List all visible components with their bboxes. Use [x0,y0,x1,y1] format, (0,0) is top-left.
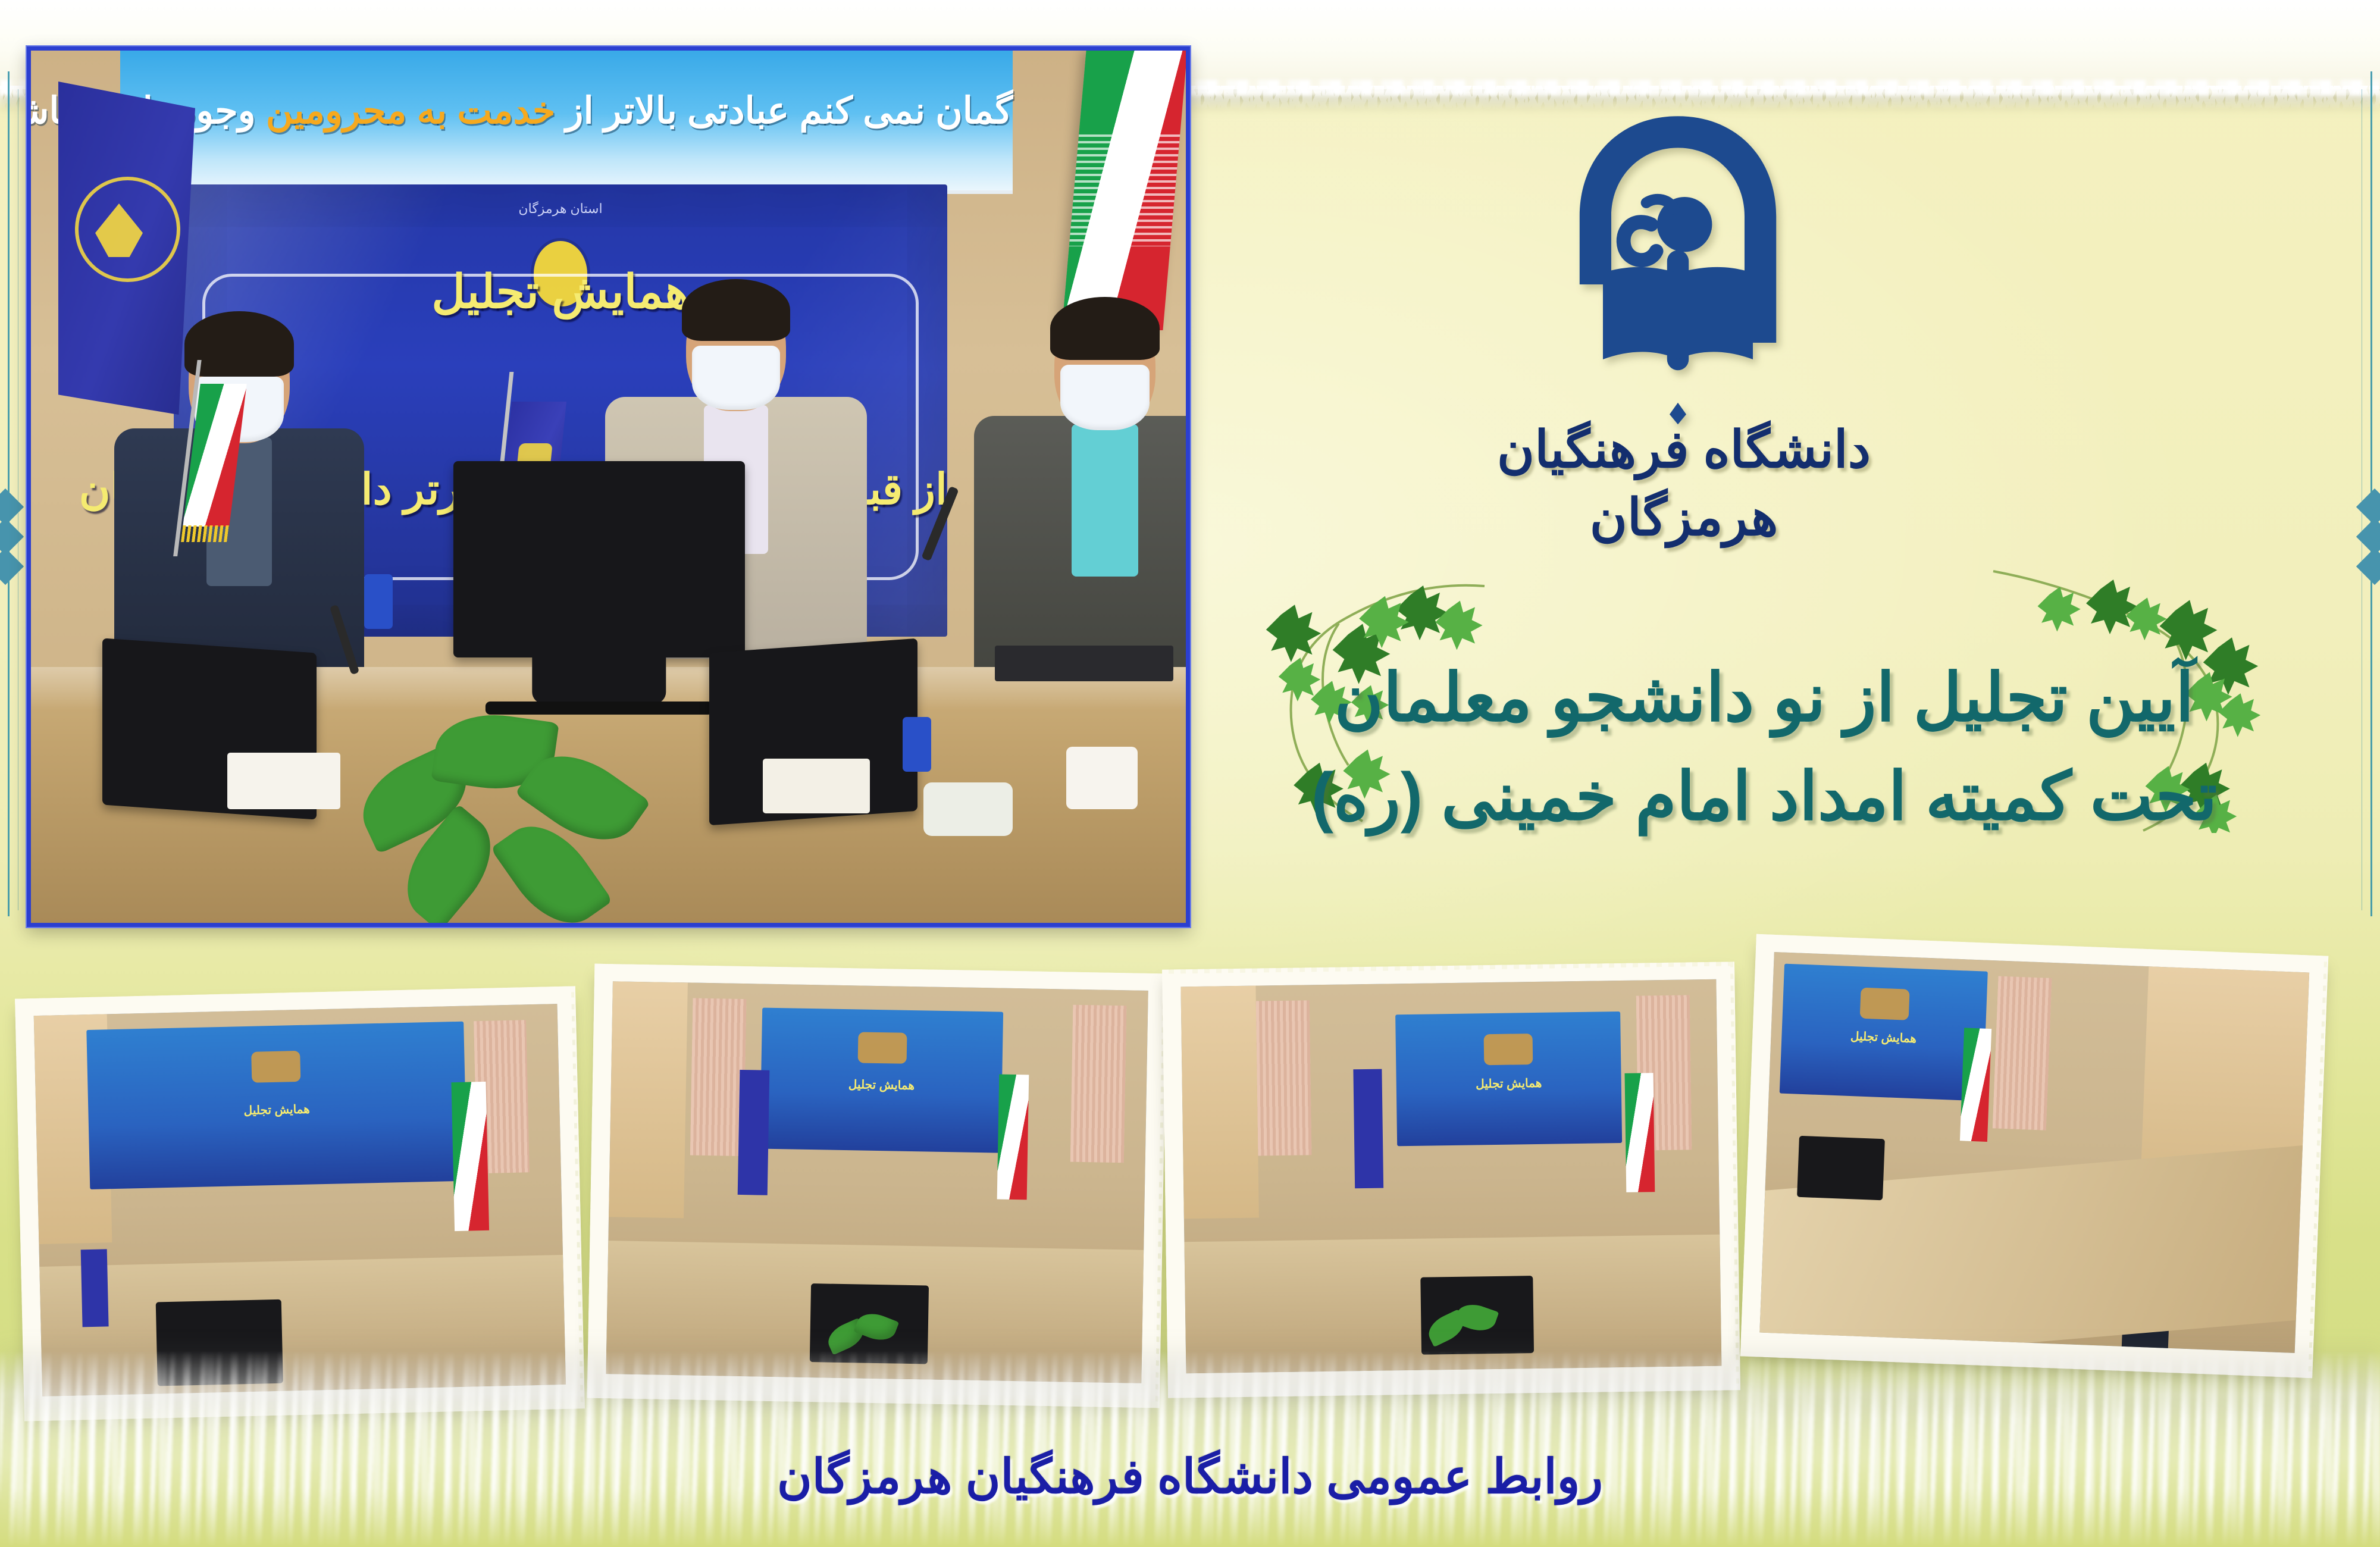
mini-banner-title: همایش تجلیل [1396,1075,1621,1092]
face-mask-icon [692,346,780,410]
diamond-icon [0,548,24,585]
keyboard-icon [995,646,1173,681]
mini-curtain [1256,1000,1312,1155]
diamond-icon [2356,548,2380,585]
mini-curtain [690,998,747,1157]
beverage-can-icon [903,717,931,772]
mini-banner-title: همایش تجلیل [1781,1026,1986,1048]
cup-icon [923,782,1013,836]
right-diamond-cluster [2362,494,2380,580]
mini-scene: همایش تجلیل [606,981,1148,1383]
desk-flag-fringe [181,525,229,542]
mini-curtain [1070,1005,1127,1163]
monitor-icon [453,461,745,657]
left-diamond-cluster [0,494,18,580]
monitor-icon [1797,1136,1885,1200]
main-event-photo-frame: گمان نمی کنم عبادتی بالاتر از خدمت به مح… [27,46,1190,927]
person-right-hair [1050,297,1160,360]
mini-scene: همایش تجلیل [1759,952,2309,1353]
person-left-hair [184,311,294,377]
thumbnail-photo-3-image: همایش تجلیل [1180,979,1721,1374]
page-title-line1: آیین تجلیل از نو دانشجو معلمان [1335,660,2194,735]
mini-wall [1180,986,1258,1219]
tissue-box-icon [763,759,870,813]
mini-wall [609,981,688,1218]
thumbnail-photo-1-image: همایش تجلیل [34,1004,566,1396]
iran-flag-icon [1625,1073,1655,1192]
mini-scene: همایش تجلیل [1180,979,1721,1374]
tissue-box-icon [227,753,340,809]
mini-curtain [1993,976,2052,1130]
mini-stage-banner: همایش تجلیل [760,1007,1003,1153]
thumbnail-photo-3[interactable]: همایش تجلیل [1166,966,1736,1393]
emdad-committee-flag-icon [1353,1069,1383,1189]
mini-stage-banner: همایش تجلیل [86,1021,467,1189]
mini-banner-title: همایش تجلیل [761,1075,1002,1094]
thumbnail-photo-4[interactable]: همایش تجلیل [1745,938,2324,1374]
cup-icon [1066,747,1138,809]
mini-banner-title: همایش تجلیل [88,1098,465,1121]
beverage-can-icon [364,574,393,629]
footer-credit: روابط عمومی دانشگاه فرهنگیان هرمزگان [0,1449,2380,1504]
mini-stage-banner: همایش تجلیل [1395,1011,1622,1146]
overhead-banner: گمان نمی کنم عبادتی بالاتر از خدمت به مح… [120,51,1013,194]
university-name-block: دانشگاه فرهنگیان هرمزگان [1476,416,1892,552]
thumbnail-photo-2-image: همایش تجلیل [606,981,1148,1383]
person-center-hair [682,279,790,341]
overhead-banner-text-highlight: خدمت به محرومین [266,90,555,131]
iran-flag-kufic-band [1069,134,1180,246]
university-name-line1: دانشگاه فرهنگیان [1476,416,1892,484]
person-right-shirt [1072,424,1138,577]
iran-flag-icon [997,1075,1029,1200]
person-right [965,289,1186,669]
emdad-committee-desk-flag-icon [81,1249,109,1327]
emdad-committee-flag-icon [738,1070,770,1195]
potted-plant-icon [346,691,679,923]
farhangian-university-logo [1553,107,1803,428]
mini-banner-medal [1484,1034,1533,1065]
mini-banner-medal [251,1051,300,1083]
page-title-line2: تحت کمیته امداد امام خمینی (ره) [1220,747,2309,846]
thumbnail-photo-4-image: همایش تجلیل [1759,952,2309,1353]
page-title: آیین تجلیل از نو دانشجو معلمان تحت کمیته… [1220,649,2309,846]
iran-flag-icon [1960,1028,1991,1142]
face-mask-icon [1060,365,1150,430]
overhead-banner-text: گمان نمی کنم عبادتی بالاتر از خدمت به مح… [120,89,1013,132]
overhead-banner-text-a: گمان نمی کنم عبادتی بالاتر از [555,90,1013,131]
meeting-room-scene: گمان نمی کنم عبادتی بالاتر از خدمت به مح… [31,51,1186,923]
mini-stage-banner: همایش تجلیل [1780,964,1988,1101]
iran-flag-icon [451,1082,489,1231]
main-event-photo: گمان نمی کنم عبادتی بالاتر از خدمت به مح… [27,46,1190,927]
mini-banner-medal [1860,988,1910,1020]
mini-banner-medal [857,1032,907,1063]
stage-banner-org-label: استان هرمزگان [174,201,947,217]
poster-canvas: گمان نمی کنم عبادتی بالاتر از خدمت به مح… [0,0,2380,1547]
mini-scene: همایش تجلیل [34,1004,566,1396]
university-name-line2: هرمزگان [1476,484,1892,552]
